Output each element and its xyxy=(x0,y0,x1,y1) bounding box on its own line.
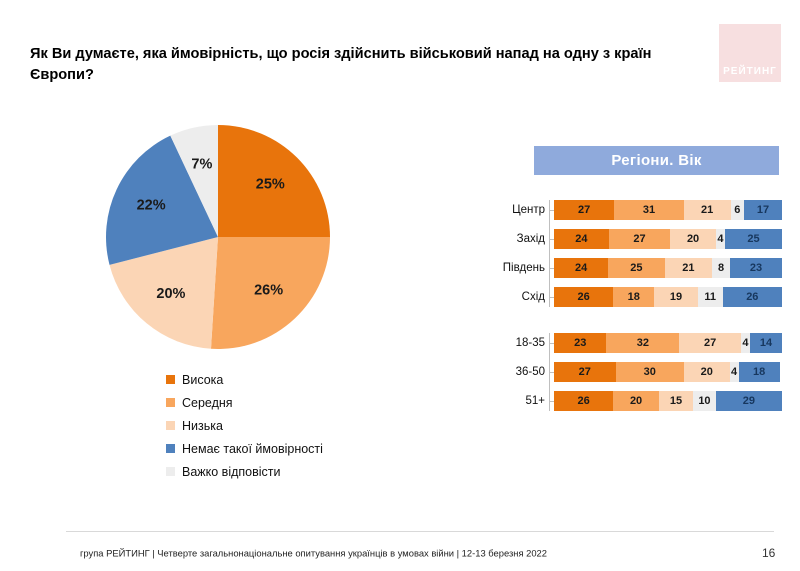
bar-segment-2: 19 xyxy=(654,287,697,307)
footer-divider xyxy=(66,531,774,532)
bar-segment-4: 18 xyxy=(739,362,780,382)
bar-track: 2618191126 xyxy=(554,287,782,307)
bar-segment-2: 20 xyxy=(670,229,716,249)
bar-segment-3: 6 xyxy=(731,200,744,220)
bar-segment-2: 15 xyxy=(659,391,693,411)
bar-segment-2: 20 xyxy=(684,362,730,382)
legend-label-hard: Важко відповісти xyxy=(182,465,281,479)
stacked-bar-chart: Центр273121617Захід242720425Південь24252… xyxy=(490,200,790,411)
bar-segment-0: 27 xyxy=(554,362,616,382)
legend-item-hard: Важко відповісти xyxy=(166,460,323,483)
bar-segment-4: 25 xyxy=(725,229,782,249)
panel-header-regions-age: Регіони. Вік xyxy=(534,146,779,175)
bar-track: 273020418 xyxy=(554,362,782,382)
bar-segment-3: 4 xyxy=(716,229,725,249)
bar-row: 51+2620151029 xyxy=(490,391,790,411)
legend-item-medium: Середня xyxy=(166,391,323,414)
bar-track: 233227414 xyxy=(554,333,782,353)
bar-segment-1: 18 xyxy=(613,287,654,307)
bar-segment-1: 30 xyxy=(616,362,684,382)
pie-value-label-4: 7% xyxy=(191,157,212,173)
legend-swatch-low xyxy=(166,421,175,430)
bar-track: 273121617 xyxy=(554,200,782,220)
bar-segment-3: 4 xyxy=(741,333,750,353)
bar-row-label: Схід xyxy=(490,291,549,303)
legend-item-none: Немає такої ймовірності xyxy=(166,437,323,460)
bar-segment-3: 11 xyxy=(698,287,723,307)
rating-logo: РЕЙТИНГ xyxy=(719,24,781,82)
bar-segment-0: 24 xyxy=(554,229,609,249)
bar-segment-0: 23 xyxy=(554,333,606,353)
bar-row-label: 18-35 xyxy=(490,337,549,349)
pie-value-label-2: 20% xyxy=(156,286,185,302)
bar-segment-4: 29 xyxy=(716,391,782,411)
legend-swatch-high xyxy=(166,375,175,384)
slide: РЕЙТИНГ Як Ви думаєте, яка ймовірність, … xyxy=(0,0,800,571)
bar-row-label: 51+ xyxy=(490,395,549,407)
pie-slices xyxy=(106,125,330,349)
bar-segment-3: 4 xyxy=(730,362,739,382)
bar-segment-4: 14 xyxy=(750,333,782,353)
bar-row-label: Центр xyxy=(490,204,549,216)
bar-segment-4: 17 xyxy=(744,200,782,220)
bar-row-label: Південь xyxy=(490,262,549,274)
bar-row: Південь242521823 xyxy=(490,258,790,278)
bar-segment-0: 26 xyxy=(554,287,613,307)
bar-segment-3: 8 xyxy=(712,258,730,278)
bar-segment-2: 21 xyxy=(684,200,731,220)
pie-chart-svg: 25%26%20%22%7% xyxy=(96,115,340,359)
bar-segment-0: 27 xyxy=(554,200,614,220)
bar-segment-1: 25 xyxy=(608,258,664,278)
pie-value-label-0: 25% xyxy=(256,177,285,193)
bar-segment-1: 27 xyxy=(609,229,671,249)
legend-swatch-none xyxy=(166,444,175,453)
legend-label-low: Низька xyxy=(182,419,223,433)
bar-group-ages: 18-3523322741436-5027302041851+262015102… xyxy=(490,333,790,411)
page-number: 16 xyxy=(762,546,775,560)
legend-swatch-medium xyxy=(166,398,175,407)
bar-row: Центр273121617 xyxy=(490,200,790,220)
legend-item-high: Висока xyxy=(166,368,323,391)
bar-row-label: 36-50 xyxy=(490,366,549,378)
bar-segment-0: 26 xyxy=(554,391,613,411)
page-title: Як Ви думаєте, яка ймовірність, що росія… xyxy=(30,44,680,86)
pie-legend: Висока Середня Низька Немає такої ймовір… xyxy=(166,368,323,483)
legend-label-none: Немає такої ймовірності xyxy=(182,442,323,456)
bar-segment-3: 10 xyxy=(693,391,716,411)
legend-label-medium: Середня xyxy=(182,396,233,410)
bar-row: Схід2618191126 xyxy=(490,287,790,307)
bar-segment-4: 23 xyxy=(730,258,782,278)
bar-row: 18-35233227414 xyxy=(490,333,790,353)
bar-track: 242720425 xyxy=(554,229,782,249)
bar-segment-1: 32 xyxy=(606,333,679,353)
legend-label-high: Висока xyxy=(182,373,223,387)
bar-track: 2620151029 xyxy=(554,391,782,411)
pie-chart: 25%26%20%22%7% xyxy=(96,115,340,359)
pie-value-label-1: 26% xyxy=(254,283,283,299)
legend-swatch-hard xyxy=(166,467,175,476)
bar-segment-2: 21 xyxy=(665,258,712,278)
bar-segment-1: 20 xyxy=(613,391,659,411)
legend-item-low: Низька xyxy=(166,414,323,437)
panel-header-label: Регіони. Вік xyxy=(534,146,779,175)
bar-segment-0: 24 xyxy=(554,258,608,278)
bar-row: Захід242720425 xyxy=(490,229,790,249)
bar-segment-4: 26 xyxy=(723,287,782,307)
bar-row-label: Захід xyxy=(490,233,549,245)
bar-segment-2: 27 xyxy=(679,333,741,353)
bar-segment-1: 31 xyxy=(614,200,683,220)
pie-value-label-3: 22% xyxy=(137,197,166,213)
bar-group-regions: Центр273121617Захід242720425Південь24252… xyxy=(490,200,790,307)
bar-track: 242521823 xyxy=(554,258,782,278)
bar-row: 36-50273020418 xyxy=(490,362,790,382)
footer-source: група РЕЙТИНГ | Четверте загальнонаціона… xyxy=(80,548,547,559)
rating-logo-text: РЕЙТИНГ xyxy=(719,66,781,77)
